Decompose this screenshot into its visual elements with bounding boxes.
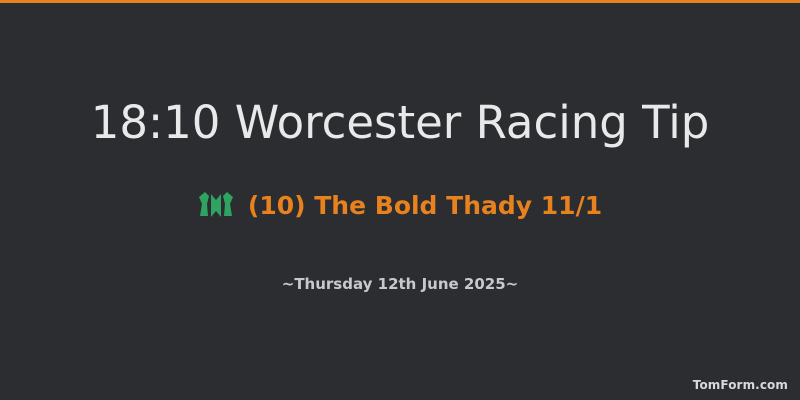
site-brand: TomForm.com bbox=[693, 378, 788, 392]
tip-card: 18:10 Worcester Racing Tip (10) The Bold… bbox=[0, 3, 800, 400]
racing-silks-icon bbox=[198, 191, 234, 221]
tip-row: (10) The Bold Thady 11/1 bbox=[0, 191, 800, 221]
page-title: 18:10 Worcester Racing Tip bbox=[0, 95, 800, 151]
tip-selection-text: (10) The Bold Thady 11/1 bbox=[248, 191, 602, 221]
meeting-date: ~Thursday 12th June 2025~ bbox=[0, 274, 800, 294]
